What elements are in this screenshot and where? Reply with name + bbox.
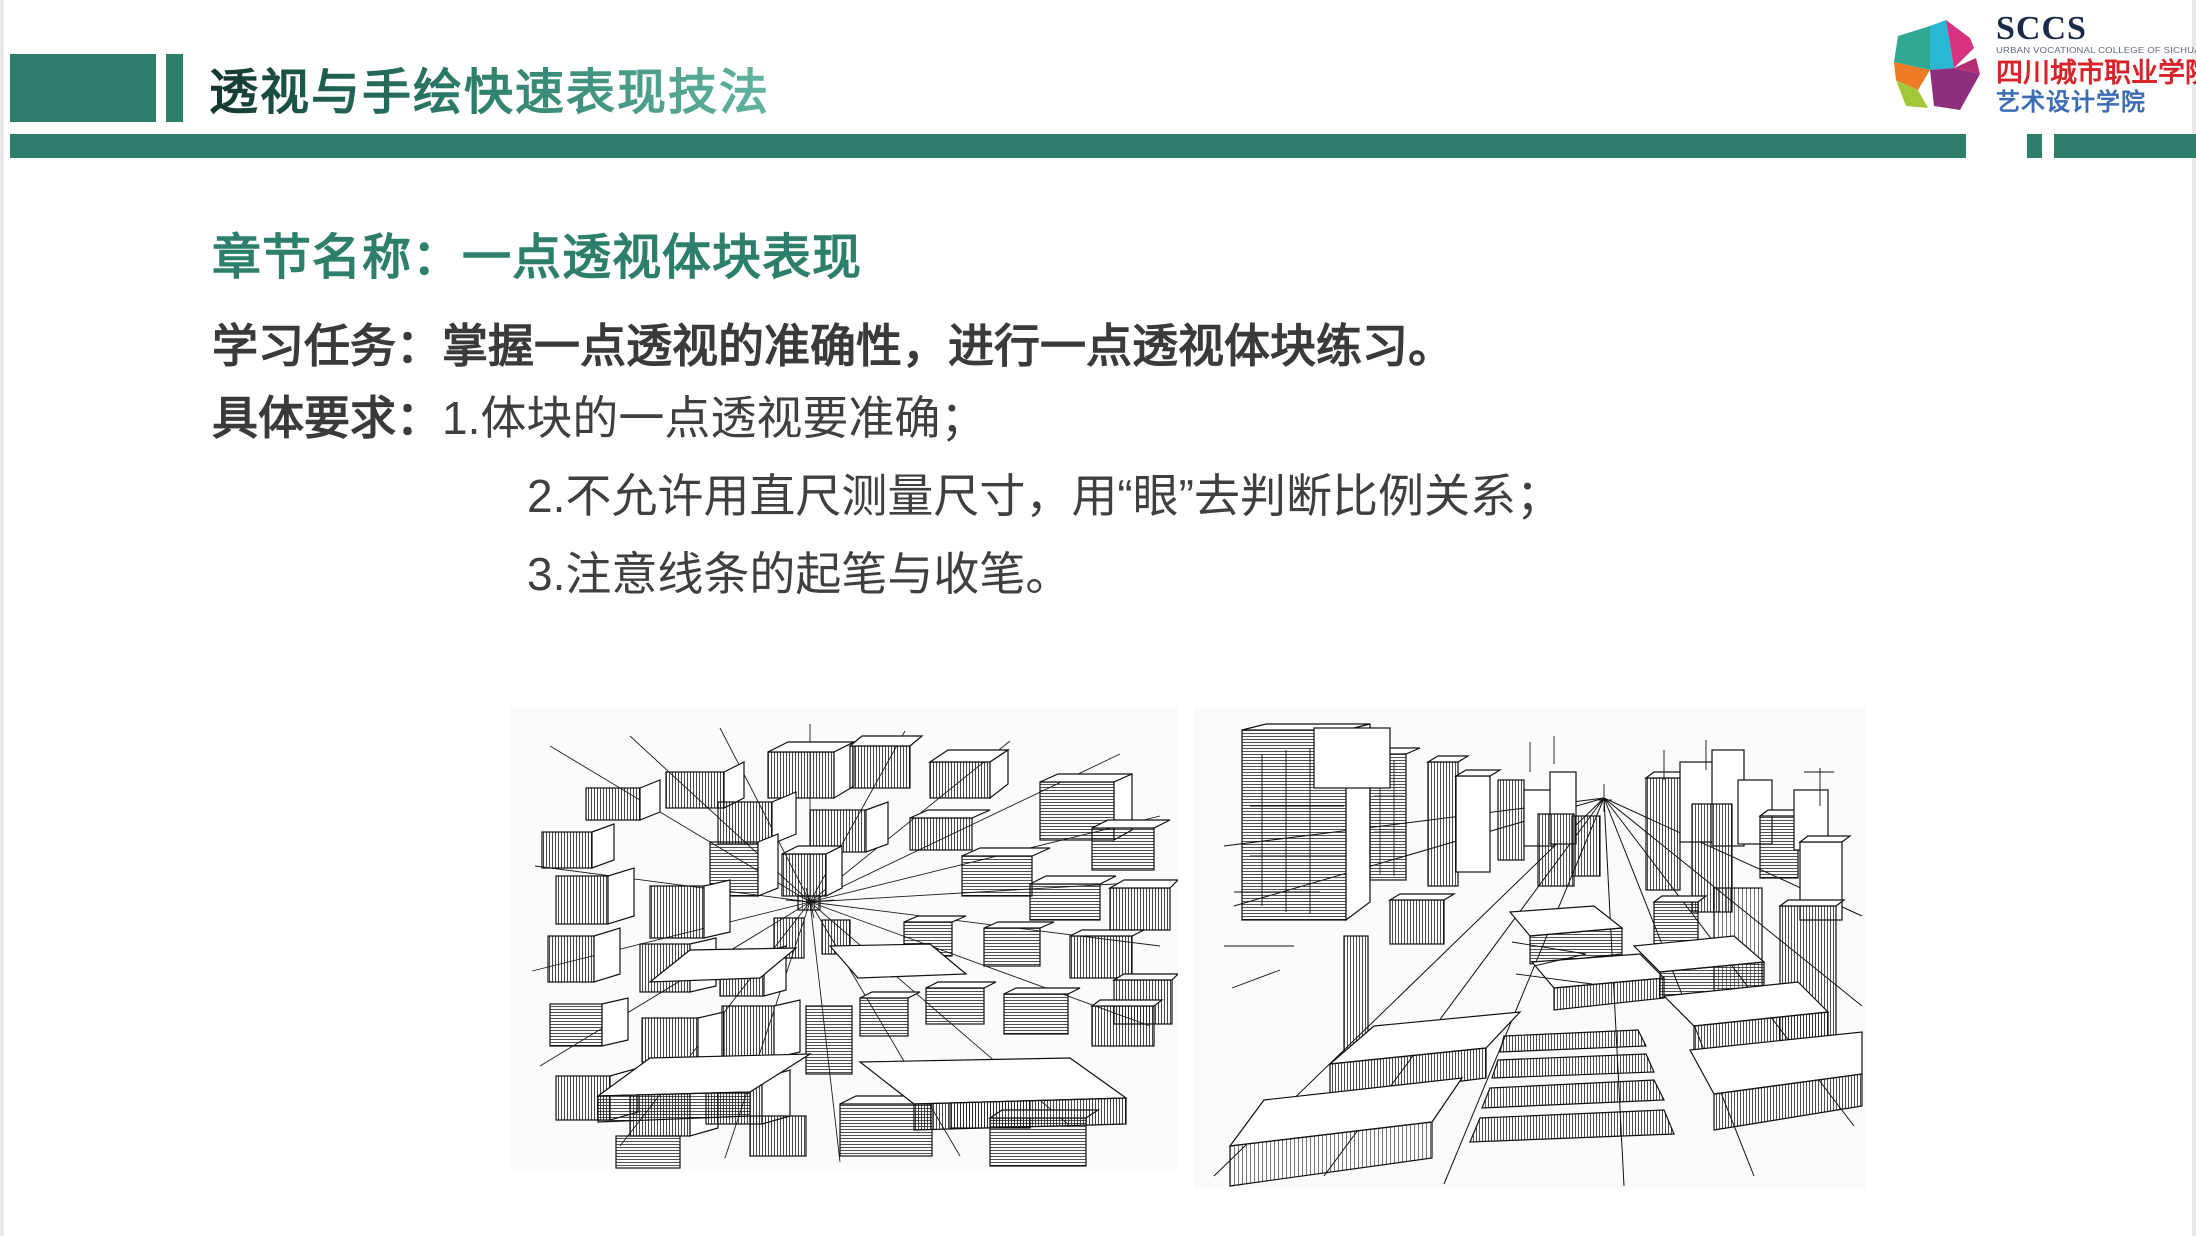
header-accent-block xyxy=(10,54,156,122)
learning-task-line: 学习任务：掌握一点透视的准确性，进行一点透视体块练习。 xyxy=(212,310,1454,376)
requirements-label: 具体要求： xyxy=(212,392,442,444)
logo-chinese-name: 四川城市职业学院 xyxy=(1996,58,2176,89)
header-title: 透视与手绘快速表现技法 xyxy=(209,50,770,126)
header-accent-bar xyxy=(166,54,183,122)
requirements-line-1: 具体要求：1.体块的一点透视要准确； xyxy=(212,382,986,448)
logo-wordmark: SCCS URBAN VOCATIONAL COLLEGE OF SICHUAN… xyxy=(1996,12,2176,117)
requirement-item-2: 2.不允许用直尺测量尺寸，用“眼”去判断比例关系； xyxy=(527,460,1562,526)
logo-english-name: URBAN VOCATIONAL COLLEGE OF SICHUAN xyxy=(1996,46,2176,57)
slide-canvas: 透视与手绘快速表现技法 SCCS URBAN VOCATIONAL COLLEG… xyxy=(0,0,2196,1236)
logo-polygon-icon xyxy=(1884,14,1992,116)
figure-one-point-perspective-blocks xyxy=(510,706,1178,1170)
logo-chinese-subname: 艺术设计学院 xyxy=(1996,89,2176,117)
requirement-item-3: 3.注意线条的起笔与收笔。 xyxy=(527,538,1071,604)
institution-logo: SCCS URBAN VOCATIONAL COLLEGE OF SICHUAN… xyxy=(1884,8,2176,120)
chapter-title: 章节名称：一点透视体块表现 xyxy=(212,218,862,289)
divider-segment-right xyxy=(2054,134,2196,158)
figure-one-point-perspective-street xyxy=(1194,706,1866,1190)
divider-segment-main xyxy=(10,134,1966,158)
divider-segment-small xyxy=(2027,134,2042,158)
requirement-item-1: 1.体块的一点透视要准确； xyxy=(442,392,986,444)
logo-abbr: SCCS xyxy=(1996,12,2176,46)
